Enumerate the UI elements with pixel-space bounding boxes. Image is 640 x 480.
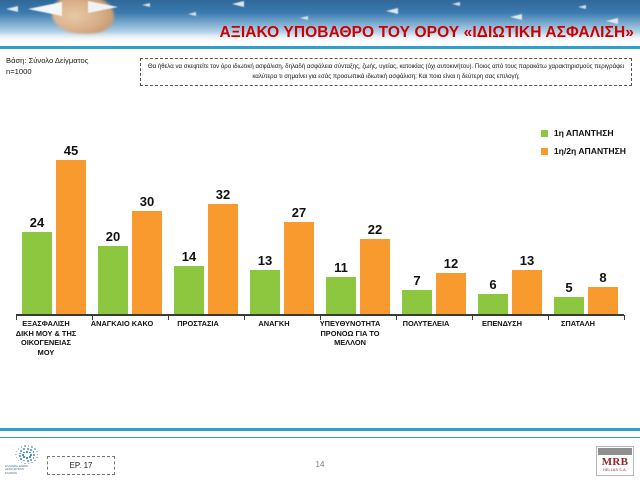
bar-value-label: 11	[321, 260, 361, 275]
base-note-line1: Βάση: Σύνολο Δείγματος	[6, 55, 124, 66]
bar-group: 2030	[98, 128, 162, 314]
mrb-logo: MRB HELLAS S.A.	[596, 446, 634, 476]
bar-value-label: 14	[169, 249, 209, 264]
logo-dot	[36, 457, 37, 458]
paper-plane-icon	[28, 2, 62, 16]
bar-group: 1327	[250, 128, 314, 314]
category-label: ΣΠΑΤΑΛΗ	[540, 319, 616, 329]
logo-dot	[28, 445, 29, 446]
category-label-line: ΕΞΑΣΦΑΛΙΣΗ	[8, 319, 84, 329]
logo-dot	[19, 455, 21, 457]
logo-dot	[33, 454, 35, 456]
logo-dot	[33, 451, 35, 453]
logo-dot	[22, 454, 24, 456]
bar-group: 1432	[174, 128, 238, 314]
bar-group: 2445	[22, 128, 86, 314]
logo-dot	[18, 460, 19, 461]
category-label-line: ΠΟΛΥΤΕΛΕΙΑ	[388, 319, 464, 329]
bar-first-answer	[98, 246, 128, 315]
bar-first-answer	[250, 270, 280, 315]
bar-value-label: 13	[245, 253, 285, 268]
bar-first-second-answer	[360, 239, 390, 315]
bar-value-label: 12	[431, 256, 471, 271]
client-logo-dots-icon	[9, 443, 43, 465]
base-note-line2: n=1000	[6, 66, 124, 77]
base-note: Βάση: Σύνολο Δείγματος n=1000	[6, 55, 124, 77]
logo-dot	[29, 456, 31, 458]
logo-dot	[31, 446, 32, 447]
bar-first-answer	[554, 297, 584, 314]
logo-dot	[21, 446, 22, 447]
logo-dot	[26, 457, 28, 459]
category-label: ΠΡΟΣΤΑΣΙΑ	[160, 319, 236, 329]
bar-group: 712	[402, 128, 466, 314]
bar-value-label: 32	[203, 187, 243, 202]
chart-category-labels: ΕΞΑΣΦΑΛΙΣΗΔΙΚΗ ΜΟΥ & ΤΗΣΟΙΚΟΓΕΝΕΙΑΣΜΟΥΑΝ…	[8, 319, 632, 369]
paper-plane-icon	[386, 8, 398, 14]
logo-dot	[37, 454, 38, 455]
bar-group: 58	[554, 128, 618, 314]
logo-dot	[18, 448, 19, 449]
bar-value-label: 20	[93, 229, 133, 244]
logo-dot	[36, 451, 37, 452]
bar-first-second-answer	[512, 270, 542, 315]
category-label-line: ΜΟΥ	[8, 348, 84, 358]
logo-dot	[21, 462, 22, 463]
mrb-logo-subtitle: HELLAS S.A.	[598, 468, 632, 472]
logo-dot	[23, 448, 25, 450]
paper-plane-icon	[88, 1, 118, 13]
category-label-line: ΑΝΑΓΚΑΙΟ ΚΑΚΟ	[84, 319, 160, 329]
logo-dot	[20, 458, 22, 460]
bar-group: 613	[478, 128, 542, 314]
category-label-line: ΠΡΟΝΟΩ ΓΙΑ ΤΟ	[312, 329, 388, 339]
bar-value-label: 45	[51, 143, 91, 158]
category-label: ΕΠΕΝΔΥΣΗ	[464, 319, 540, 329]
bar-value-label: 8	[583, 270, 623, 285]
footer-rule-thick	[0, 428, 640, 431]
slide-title: ΑΞΙΑΚΟ ΥΠΟΒΑΘΡΟ ΤΟΥ ΟΡΟΥ «ΙΔΙΩΤΙΚΗ ΑΣΦΑΛ…	[0, 24, 640, 46]
title-underline-rule	[0, 46, 640, 49]
logo-dot	[20, 450, 22, 452]
question-text: Θα ήθελα να σκεφτείτε τον όρο ιδιωτική α…	[148, 63, 624, 80]
bar-first-answer	[22, 232, 52, 315]
logo-dot	[29, 452, 31, 454]
logo-dot	[23, 452, 25, 454]
category-label-line: ΥΠΕΥΘΥΝΟΤΗΤΑ	[312, 319, 388, 329]
bar-value-label: 30	[127, 194, 167, 209]
bar-first-second-answer	[284, 222, 314, 315]
bar-value-label: 6	[473, 277, 513, 292]
logo-dot	[34, 448, 35, 449]
question-text-box: Θα ήθελα να σκεφτείτε τον όρο ιδιωτική α…	[140, 58, 632, 86]
category-label-line: ΕΠΕΝΔΥΣΗ	[464, 319, 540, 329]
category-label-line: ΣΠΑΤΑΛΗ	[540, 319, 616, 329]
bar-first-second-answer	[132, 211, 162, 314]
logo-dot	[34, 460, 35, 461]
category-label-line: ΜΕΛΛΟΝ	[312, 338, 388, 348]
logo-dot	[16, 451, 17, 452]
category-label-line: ΟΙΚΟΓΕΝΕΙΑΣ	[8, 338, 84, 348]
logo-dot	[27, 460, 29, 462]
bar-value-label: 27	[279, 205, 319, 220]
category-label: ΑΝΑΓΚΑΙΟ ΚΑΚΟ	[84, 319, 160, 329]
bar-chart: 2445203014321327112271261358	[8, 120, 632, 316]
logo-dot	[23, 460, 25, 462]
category-label: ΑΝΑΓΚΗ	[236, 319, 312, 329]
chart-plot-area: 2445203014321327112271261358	[8, 120, 632, 316]
mrb-logo-bar	[598, 448, 632, 455]
category-label-line: ΠΡΟΣΤΑΣΙΑ	[160, 319, 236, 329]
bar-value-label: 24	[17, 215, 57, 230]
bar-group: 1122	[326, 128, 390, 314]
category-label: ΕΞΑΣΦΑΛΙΣΗΔΙΚΗ ΜΟΥ & ΤΗΣΟΙΚΟΓΕΝΕΙΑΣΜΟΥ	[8, 319, 84, 357]
logo-dot	[16, 457, 17, 458]
paper-plane-icon	[188, 12, 196, 16]
category-label: ΥΠΕΥΘΥΝΟΤΗΤΑΠΡΟΝΟΩ ΓΙΑ ΤΟΜΕΛΛΟΝ	[312, 319, 388, 348]
logo-dot	[19, 453, 21, 455]
paper-plane-icon	[6, 6, 18, 12]
logo-dot	[31, 462, 32, 463]
paper-plane-icon	[232, 1, 244, 7]
logo-dot	[30, 459, 32, 461]
logo-dot	[24, 463, 25, 464]
bar-first-second-answer	[436, 273, 466, 314]
category-label-line: ΑΝΑΓΚΗ	[236, 319, 312, 329]
question-reference-text: ΕΡ. 17	[70, 461, 93, 470]
footer-rule-thin	[0, 437, 640, 438]
bar-first-answer	[402, 290, 432, 314]
paper-plane-icon	[452, 2, 460, 6]
category-label: ΠΟΛΥΤΕΛΕΙΑ	[388, 319, 464, 329]
bar-first-answer	[326, 277, 356, 315]
logo-dot	[33, 457, 35, 459]
client-logo-subtitle: ΕΛΛΗΝΙΚΗ ΕΝΩΣΗΑΣΦΑΛΙΣΤΙΚΩΝΕΤΑΙΡΙΩΝ	[5, 465, 45, 475]
client-logo: ΕΛΛΗΝΙΚΗ ΕΝΩΣΗΑΣΦΑΛΙΣΤΙΚΩΝΕΤΑΙΡΙΩΝ	[5, 443, 45, 477]
bar-first-second-answer	[208, 204, 238, 314]
paper-plane-icon	[510, 14, 522, 20]
paper-plane-icon	[578, 5, 586, 9]
logo-dot	[26, 451, 28, 453]
page-number: 14	[296, 460, 344, 469]
bar-value-label: 22	[355, 222, 395, 237]
bar-first-answer	[478, 294, 508, 315]
mrb-logo-name: MRB	[598, 456, 632, 468]
slide-title-text: ΑΞΙΑΚΟ ΥΠΟΒΑΘΡΟ ΤΟΥ ΟΡΟΥ «ΙΔΙΩΤΙΚΗ ΑΣΦΑΛ…	[219, 24, 640, 42]
bar-value-label: 13	[507, 253, 547, 268]
paper-plane-icon	[142, 3, 150, 7]
client-logo-subtitle-line: ΕΤΑΙΡΙΩΝ	[5, 472, 45, 475]
bar-value-label: 7	[397, 273, 437, 288]
logo-dot	[15, 454, 16, 455]
category-label-line: ΔΙΚΗ ΜΟΥ & ΤΗΣ	[8, 329, 84, 339]
chart-x-axis	[16, 314, 624, 316]
logo-dot	[27, 448, 29, 450]
bar-first-second-answer	[56, 160, 86, 315]
logo-dot	[23, 456, 25, 458]
paper-plane-icon	[300, 16, 308, 20]
logo-dot	[28, 463, 29, 464]
bar-first-answer	[174, 266, 204, 314]
logo-dot	[24, 445, 25, 446]
question-reference-box: ΕΡ. 17	[47, 456, 115, 475]
bar-first-second-answer	[588, 287, 618, 315]
